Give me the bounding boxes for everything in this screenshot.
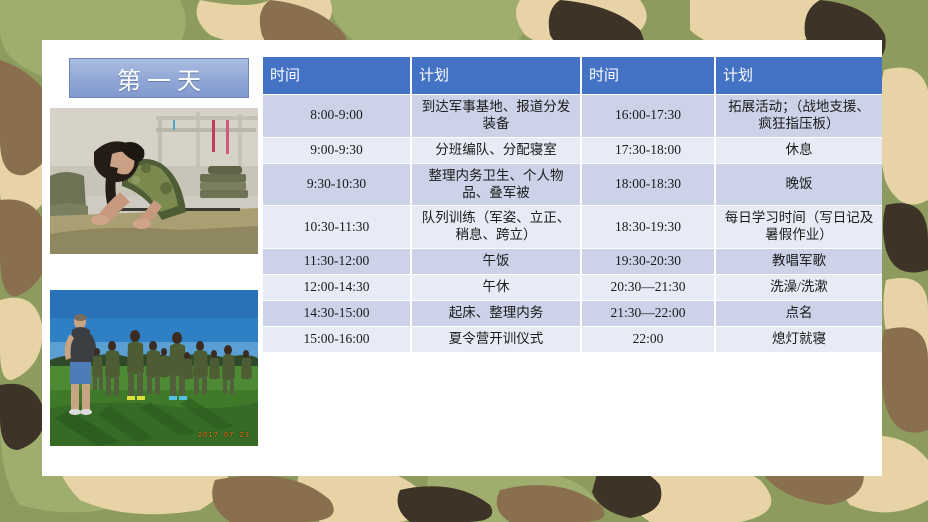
table-row: 8:00-9:00 到达军事基地、报道分发装备 16:00-17:30 拓展活动… bbox=[263, 95, 882, 137]
cell-plan-am: 夏令营开训仪式 bbox=[412, 327, 580, 352]
cell-time-pm: 17:30-18:00 bbox=[582, 138, 714, 163]
cell-plan-am: 到达军事基地、报道分发装备 bbox=[412, 95, 580, 137]
cell-plan-pm: 休息 bbox=[716, 138, 882, 163]
slide-canvas: 第一天 bbox=[0, 0, 928, 522]
cell-time-am: 9:30-10:30 bbox=[263, 164, 410, 206]
table-row: 12:00-14:30 午休 20:30—21:30 洗澡/洗漱 bbox=[263, 275, 882, 300]
cell-time-am: 12:00-14:30 bbox=[263, 275, 410, 300]
table-row: 10:30-11:30 队列训练（军姿、立正、稍息、跨立） 18:30-19:3… bbox=[263, 206, 882, 248]
cell-time-am: 11:30-12:00 bbox=[263, 249, 410, 274]
table-header-row: 时间 计划 时间 计划 bbox=[263, 57, 882, 94]
cell-time-am: 14:30-15:00 bbox=[263, 301, 410, 326]
cell-time-am: 9:00-9:30 bbox=[263, 138, 410, 163]
cell-time-pm: 19:30-20:30 bbox=[582, 249, 714, 274]
column-header-plan-am: 计划 bbox=[412, 57, 580, 94]
cell-time-am: 10:30-11:30 bbox=[263, 206, 410, 248]
cell-time-pm: 16:00-17:30 bbox=[582, 95, 714, 137]
column-header-time-am: 时间 bbox=[263, 57, 410, 94]
cell-plan-am: 队列训练（军姿、立正、稍息、跨立） bbox=[412, 206, 580, 248]
cell-plan-am: 午饭 bbox=[412, 249, 580, 274]
cell-time-am: 15:00-16:00 bbox=[263, 327, 410, 352]
cell-plan-pm: 每日学习时间（写日记及暑假作业） bbox=[716, 206, 882, 248]
photo-field-formation: 2017 07 23 bbox=[50, 290, 258, 446]
cell-time-pm: 18:30-19:30 bbox=[582, 206, 714, 248]
cell-time-pm: 20:30—21:30 bbox=[582, 275, 714, 300]
cell-plan-pm: 教唱军歌 bbox=[716, 249, 882, 274]
cell-time-pm: 21:30—22:00 bbox=[582, 301, 714, 326]
day-title-label: 第一天 bbox=[111, 61, 207, 96]
cell-plan-am: 午休 bbox=[412, 275, 580, 300]
photo-timestamp: 2017 07 23 bbox=[198, 431, 250, 439]
table-row: 14:30-15:00 起床、整理内务 21:30—22:00 点名 bbox=[263, 301, 882, 326]
column-header-time-pm: 时间 bbox=[582, 57, 714, 94]
cell-time-am: 8:00-9:00 bbox=[263, 95, 410, 137]
content-card: 第一天 bbox=[42, 40, 882, 476]
day-title-badge: 第一天 bbox=[69, 58, 249, 98]
column-header-plan-pm: 计划 bbox=[716, 57, 882, 94]
cell-plan-pm: 熄灯就寝 bbox=[716, 327, 882, 352]
cell-plan-am: 起床、整理内务 bbox=[412, 301, 580, 326]
cell-plan-am: 整理内务卫生、个人物品、叠军被 bbox=[412, 164, 580, 206]
cell-time-pm: 18:00-18:30 bbox=[582, 164, 714, 206]
cell-plan-pm: 拓展活动；（战地支援、疯狂指压板） bbox=[716, 95, 882, 137]
cell-plan-pm: 洗澡/洗漱 bbox=[716, 275, 882, 300]
table-row: 9:30-10:30 整理内务卫生、个人物品、叠军被 18:00-18:30 晚… bbox=[263, 164, 882, 206]
table-row: 15:00-16:00 夏令营开训仪式 22:00 熄灯就寝 bbox=[263, 327, 882, 352]
table-row: 11:30-12:00 午饭 19:30-20:30 教唱军歌 bbox=[263, 249, 882, 274]
schedule-table: 时间 计划 时间 计划 8:00-9:00 到达军事基地、报道分发装备 16:0… bbox=[261, 56, 884, 353]
cell-plan-pm: 点名 bbox=[716, 301, 882, 326]
table-row: 9:00-9:30 分班编队、分配寝室 17:30-18:00 休息 bbox=[263, 138, 882, 163]
cell-time-pm: 22:00 bbox=[582, 327, 714, 352]
cell-plan-am: 分班编队、分配寝室 bbox=[412, 138, 580, 163]
photo-dormitory bbox=[50, 108, 258, 254]
cell-plan-pm: 晚饭 bbox=[716, 164, 882, 206]
